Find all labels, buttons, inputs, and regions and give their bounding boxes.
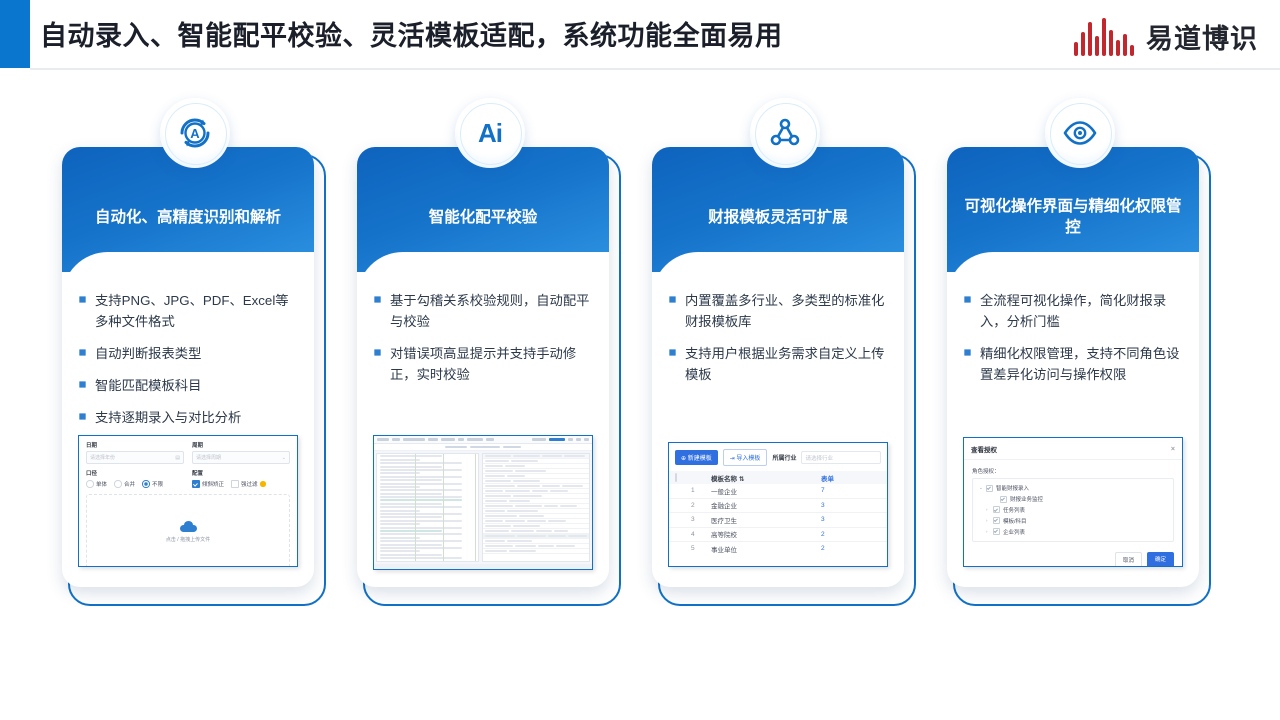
date-label: 日期 <box>86 441 184 449</box>
template-table-screenshot: ⊕ 新建模板 ⇥ 导入模板 所属行业 请选择行业 模板名称 ⇅ 表单 <box>668 442 888 567</box>
row-count[interactable]: 2 <box>821 531 881 538</box>
chevron-right-icon[interactable]: › <box>986 507 990 512</box>
diamond-bullet-icon <box>76 410 89 423</box>
form-row: 日期 请选择年份 ▤ 周期 请选择周期 ⌄ <box>79 436 297 464</box>
app-toolbar <box>374 436 592 444</box>
checkbox-icon-checked <box>192 480 200 488</box>
dialog-header: 查看授权 × <box>964 438 1182 460</box>
bullet-text: 支持用户根据业务需求自定义上传模板 <box>685 346 884 382</box>
section-label: 角色授权： <box>964 460 1182 478</box>
bullet-text: 基于勾稽关系校验规则，自动配平与校验 <box>390 293 589 329</box>
checkbox-icon-checked[interactable] <box>1000 496 1007 503</box>
feature-card-1[interactable]: 自动化、高精度识别和解析 支持PNG、JPG、PDF、Excel等多种文件格式 … <box>62 140 328 606</box>
diamond-bullet-icon <box>76 293 89 306</box>
row-name: 高等院校 <box>711 529 821 539</box>
row-index: 4 <box>691 531 711 538</box>
diamond-bullet-icon <box>666 293 679 306</box>
bullet-text: 精细化权限管理，支持不同角色设置差异化访问与操作权限 <box>980 346 1179 382</box>
diamond-bullet-icon <box>371 293 384 306</box>
tree-item[interactable]: › 企业列表 <box>977 526 1169 537</box>
card-title: 财报模板灵活可扩展 <box>666 207 890 228</box>
list-item: 内置覆盖多行业、多类型的标准化财报模板库 <box>668 290 888 332</box>
checkbox-icon-checked[interactable] <box>986 485 993 492</box>
chevron-right-icon[interactable]: › <box>986 518 990 523</box>
document-preview-pane <box>376 453 479 562</box>
sort-icon: ⇅ <box>739 476 744 483</box>
checkbox-label: 倾斜矫正 <box>202 480 224 488</box>
checkbox-option-checked[interactable]: 倾斜矫正 <box>192 480 224 488</box>
radio-option[interactable]: 合并 <box>114 480 135 488</box>
page-title: 自动录入、智能配平校验、灵活模板适配，系统功能全面易用 <box>40 14 783 53</box>
card-title: 智能化配平校验 <box>371 207 595 228</box>
auth-dialog-screenshot: 查看授权 × 角色授权： ⌄ 智能财报录入 <box>963 437 1183 567</box>
tree-item-label: 智能财报录入 <box>996 484 1029 492</box>
radio-option[interactable]: 单体 <box>86 480 107 488</box>
card-content: 内置覆盖多行业、多类型的标准化财报模板库 支持用户根据业务需求自定义上传模板 ⊕… <box>652 272 904 396</box>
checkbox-icon-checked[interactable] <box>993 506 1000 513</box>
radio-icon <box>86 480 94 488</box>
feature-card-3[interactable]: 财报模板灵活可扩展 内置覆盖多行业、多类型的标准化财报模板库 支持用户根据业务需… <box>652 140 918 606</box>
feature-card-row: 自动化、高精度识别和解析 支持PNG、JPG、PDF、Excel等多种文件格式 … <box>0 140 1280 620</box>
chevron-down-icon[interactable]: ⌄ <box>979 485 983 491</box>
table-row[interactable]: 5 事业单位 2 <box>669 542 887 556</box>
import-template-button[interactable]: ⇥ 导入模板 <box>723 449 768 466</box>
template-network-icon <box>750 98 820 168</box>
diamond-bullet-icon <box>961 293 974 306</box>
brand-name: 易道博识 <box>1146 17 1258 56</box>
date-placeholder: 请选择年份 <box>90 454 115 461</box>
diamond-bullet-icon <box>961 346 974 359</box>
period-field-group: 周期 请选择周期 ⌄ <box>192 436 290 464</box>
row-name: 事业单位 <box>711 544 821 554</box>
list-item: 精细化权限管理，支持不同角色设置差异化访问与操作权限 <box>963 343 1183 385</box>
row-count[interactable]: 2 <box>821 545 881 552</box>
table-row[interactable]: 1 一般企业 7 <box>669 484 887 499</box>
bullet-text: 智能匹配模板科目 <box>95 378 201 393</box>
close-icon[interactable]: × <box>1171 446 1175 453</box>
slide-root: 自动录入、智能配平校验、灵活模板适配，系统功能全面易用 易道博识 <box>0 0 1280 720</box>
config-label: 配置 <box>192 469 290 477</box>
list-item: 自动判断报表类型 <box>78 343 298 364</box>
tree-item[interactable]: ⌄ 智能财报录入 <box>977 483 1169 494</box>
tree-item[interactable]: › 模板/科目 <box>977 515 1169 526</box>
bullet-text: 支持逐期录入与对比分析 <box>95 410 241 425</box>
checkbox-option[interactable]: 强过滤 <box>231 480 266 488</box>
tree-item-label: 财报业务监控 <box>1010 495 1043 503</box>
chevron-down-icon: ⌄ <box>282 455 286 461</box>
permission-tree: ⌄ 智能财报录入 财报业务监控 › <box>972 478 1174 542</box>
dropzone-label: 点击 / 拖拽上传文件 <box>166 536 210 543</box>
radio-label: 单体 <box>96 480 107 488</box>
list-item: 智能匹配模板科目 <box>78 375 298 396</box>
list-item: 支持用户根据业务需求自定义上传模板 <box>668 343 888 385</box>
header-divider <box>30 68 1280 70</box>
tree-item[interactable]: › 任务列表 <box>977 505 1169 516</box>
new-template-label: 新建模板 <box>688 456 712 462</box>
row-name: 金融企业 <box>711 500 821 510</box>
date-field-group: 日期 请选择年份 ▤ <box>86 436 184 464</box>
warning-icon <box>260 481 266 487</box>
config-checkboxes: 倾斜矫正 强过滤 <box>192 480 290 488</box>
tree-item-label: 任务列表 <box>1003 506 1025 514</box>
date-input[interactable]: 请选择年份 ▤ <box>86 451 184 464</box>
radio-label: 不限 <box>152 480 163 488</box>
chevron-right-icon[interactable]: › <box>986 529 990 534</box>
svg-text:A: A <box>190 126 200 141</box>
bullet-text: 自动判断报表类型 <box>95 346 201 361</box>
row-index: 3 <box>691 516 711 523</box>
checkbox-icon-checked[interactable] <box>993 528 1000 535</box>
table-row[interactable]: 4 高等院校 2 <box>669 528 887 543</box>
calendar-icon: ▤ <box>175 455 180 461</box>
checkbox-icon-checked[interactable] <box>993 517 1000 524</box>
feature-card-2[interactable]: 智能化配平校验 基于勾稽关系校验规则，自动配平与校验 对错误项高显提示并支持手动… <box>357 140 623 606</box>
cloud-upload-icon <box>180 521 197 532</box>
soundwave-logo-icon <box>1074 16 1136 56</box>
file-dropzone[interactable]: 点击 / 拖拽上传文件 <box>86 494 290 567</box>
list-item: 支持PNG、JPG、PDF、Excel等多种文件格式 <box>78 290 298 332</box>
row-count[interactable]: 3 <box>821 516 881 523</box>
app-tabs <box>374 444 592 451</box>
table-row[interactable]: 3 医疗卫生 3 <box>669 513 887 528</box>
row-name: 医疗卫生 <box>711 515 821 525</box>
bullet-list: 内置覆盖多行业、多类型的标准化财报模板库 支持用户根据业务需求自定义上传模板 <box>652 272 904 385</box>
form-row: 口径 单体 合并 不限 配置 倾斜矫正 <box>79 464 297 488</box>
diamond-bullet-icon <box>666 346 679 359</box>
bullet-text: 支持PNG、JPG、PDF、Excel等多种文件格式 <box>95 293 289 329</box>
card-content: 全流程可视化操作，简化财报录入，分析门槛 精细化权限管理，支持不同角色设置差异化… <box>947 272 1199 396</box>
checkbox-label: 强过滤 <box>241 480 258 488</box>
tree-item-label: 模板/科目 <box>1003 517 1027 525</box>
auto-recognition-icon: A <box>160 98 230 168</box>
row-count[interactable]: 7 <box>821 487 881 494</box>
diamond-bullet-icon <box>76 346 89 359</box>
bullet-text: 对错误项高显提示并支持手动修正，实时校验 <box>390 346 576 382</box>
bullet-text: 内置覆盖多行业、多类型的标准化财报模板库 <box>685 293 884 329</box>
new-template-button[interactable]: ⊕ 新建模板 <box>675 450 718 465</box>
checkbox-icon <box>675 473 677 482</box>
caliber-label: 口径 <box>86 469 184 477</box>
row-index: 1 <box>691 487 711 494</box>
radio-option-selected[interactable]: 不限 <box>142 480 163 488</box>
diamond-bullet-icon <box>76 378 89 391</box>
radio-icon-selected <box>142 480 150 488</box>
cancel-button[interactable]: 取消 <box>1115 552 1142 567</box>
brand-logo: 易道博识 <box>1074 14 1258 58</box>
row-index: 5 <box>691 545 711 552</box>
row-index: 2 <box>691 502 711 509</box>
industry-filter-select[interactable]: 请选择行业 <box>801 451 881 464</box>
bullet-text: 全流程可视化操作，简化财报录入，分析门槛 <box>980 293 1166 329</box>
card-body: 财报模板灵活可扩展 内置覆盖多行业、多类型的标准化财报模板库 支持用户根据业务需… <box>652 147 904 587</box>
column-header-count: 表单 <box>821 473 881 483</box>
document-compare-screenshot <box>373 435 593 570</box>
ai-icon: Ai <box>455 98 525 168</box>
column-header-name[interactable]: 模板名称 ⇅ <box>711 473 821 483</box>
slide-header: 自动录入、智能配平校验、灵活模板适配，系统功能全面易用 易道博识 <box>0 0 1280 70</box>
bullet-list: 全流程可视化操作，简化财报录入，分析门槛 精细化权限管理，支持不同角色设置差异化… <box>947 272 1199 385</box>
caliber-radios: 单体 合并 不限 <box>86 480 184 488</box>
checkbox-icon <box>231 480 239 488</box>
card-title: 可视化操作界面与精细化权限管控 <box>961 196 1185 238</box>
caliber-group: 口径 单体 合并 不限 <box>86 464 184 488</box>
extracted-table-pane <box>482 453 590 562</box>
diamond-bullet-icon <box>371 346 384 359</box>
card-content: 支持PNG、JPG、PDF、Excel等多种文件格式 自动判断报表类型 智能匹配… <box>62 272 314 439</box>
card-body: 智能化配平校验 基于勾稽关系校验规则，自动配平与校验 对错误项高显提示并支持手动… <box>357 147 609 587</box>
radio-icon <box>114 480 122 488</box>
period-label: 周期 <box>192 441 290 449</box>
list-item: 全流程可视化操作，简化财报录入，分析门槛 <box>963 290 1183 332</box>
industry-filter-label: 所属行业 <box>772 453 796 462</box>
ai-icon-label: Ai <box>478 118 502 149</box>
dialog-title: 查看授权 <box>971 444 997 454</box>
eye-icon <box>1045 98 1115 168</box>
table-toolbar: ⊕ 新建模板 ⇥ 导入模板 所属行业 请选择行业 <box>669 443 887 471</box>
bullet-list: 基于勾稽关系校验规则，自动配平与校验 对错误项高显提示并支持手动修正，实时校验 <box>357 272 609 385</box>
list-item: 支持逐期录入与对比分析 <box>78 407 298 428</box>
bullet-list: 支持PNG、JPG、PDF、Excel等多种文件格式 自动判断报表类型 智能匹配… <box>62 272 314 428</box>
row-count[interactable]: 3 <box>821 502 881 509</box>
period-select[interactable]: 请选择周期 ⌄ <box>192 451 290 464</box>
period-placeholder: 请选择周期 <box>196 454 221 461</box>
card-title: 自动化、高精度识别和解析 <box>76 207 300 228</box>
table-header-row: 模板名称 ⇅ 表单 <box>669 471 887 484</box>
list-item: 对错误项高显提示并支持手动修正，实时校验 <box>373 343 593 385</box>
radio-label: 合并 <box>124 480 135 488</box>
table-row[interactable]: 2 金融企业 3 <box>669 499 887 514</box>
header-accent-bar <box>0 0 30 68</box>
feature-card-4[interactable]: 可视化操作界面与精细化权限管控 全流程可视化操作，简化财报录入，分析门槛 精细化… <box>947 140 1213 606</box>
list-item: 基于勾稽关系校验规则，自动配平与校验 <box>373 290 593 332</box>
import-template-label: 导入模板 <box>736 456 760 462</box>
compare-panes <box>374 451 592 564</box>
row-name: 一般企业 <box>711 486 821 496</box>
card-body: 可视化操作界面与精细化权限管控 全流程可视化操作，简化财报录入，分析门槛 精细化… <box>947 147 1199 587</box>
confirm-button[interactable]: 确定 <box>1147 552 1174 567</box>
dialog-footer: 取消 确定 <box>964 542 1182 567</box>
tree-item[interactable]: 财报业务监控 <box>977 494 1169 505</box>
config-group: 配置 倾斜矫正 强过滤 <box>192 464 290 488</box>
industry-filter-placeholder: 请选择行业 <box>805 454 833 462</box>
card-body: 自动化、高精度识别和解析 支持PNG、JPG、PDF、Excel等多种文件格式 … <box>62 147 314 587</box>
card-content: 基于勾稽关系校验规则，自动配平与校验 对错误项高显提示并支持手动修正，实时校验 <box>357 272 609 396</box>
tree-item-label: 企业列表 <box>1003 528 1025 536</box>
select-all-checkbox-cell[interactable] <box>675 474 691 481</box>
upload-form-screenshot: 日期 请选择年份 ▤ 周期 请选择周期 ⌄ <box>78 435 298 567</box>
